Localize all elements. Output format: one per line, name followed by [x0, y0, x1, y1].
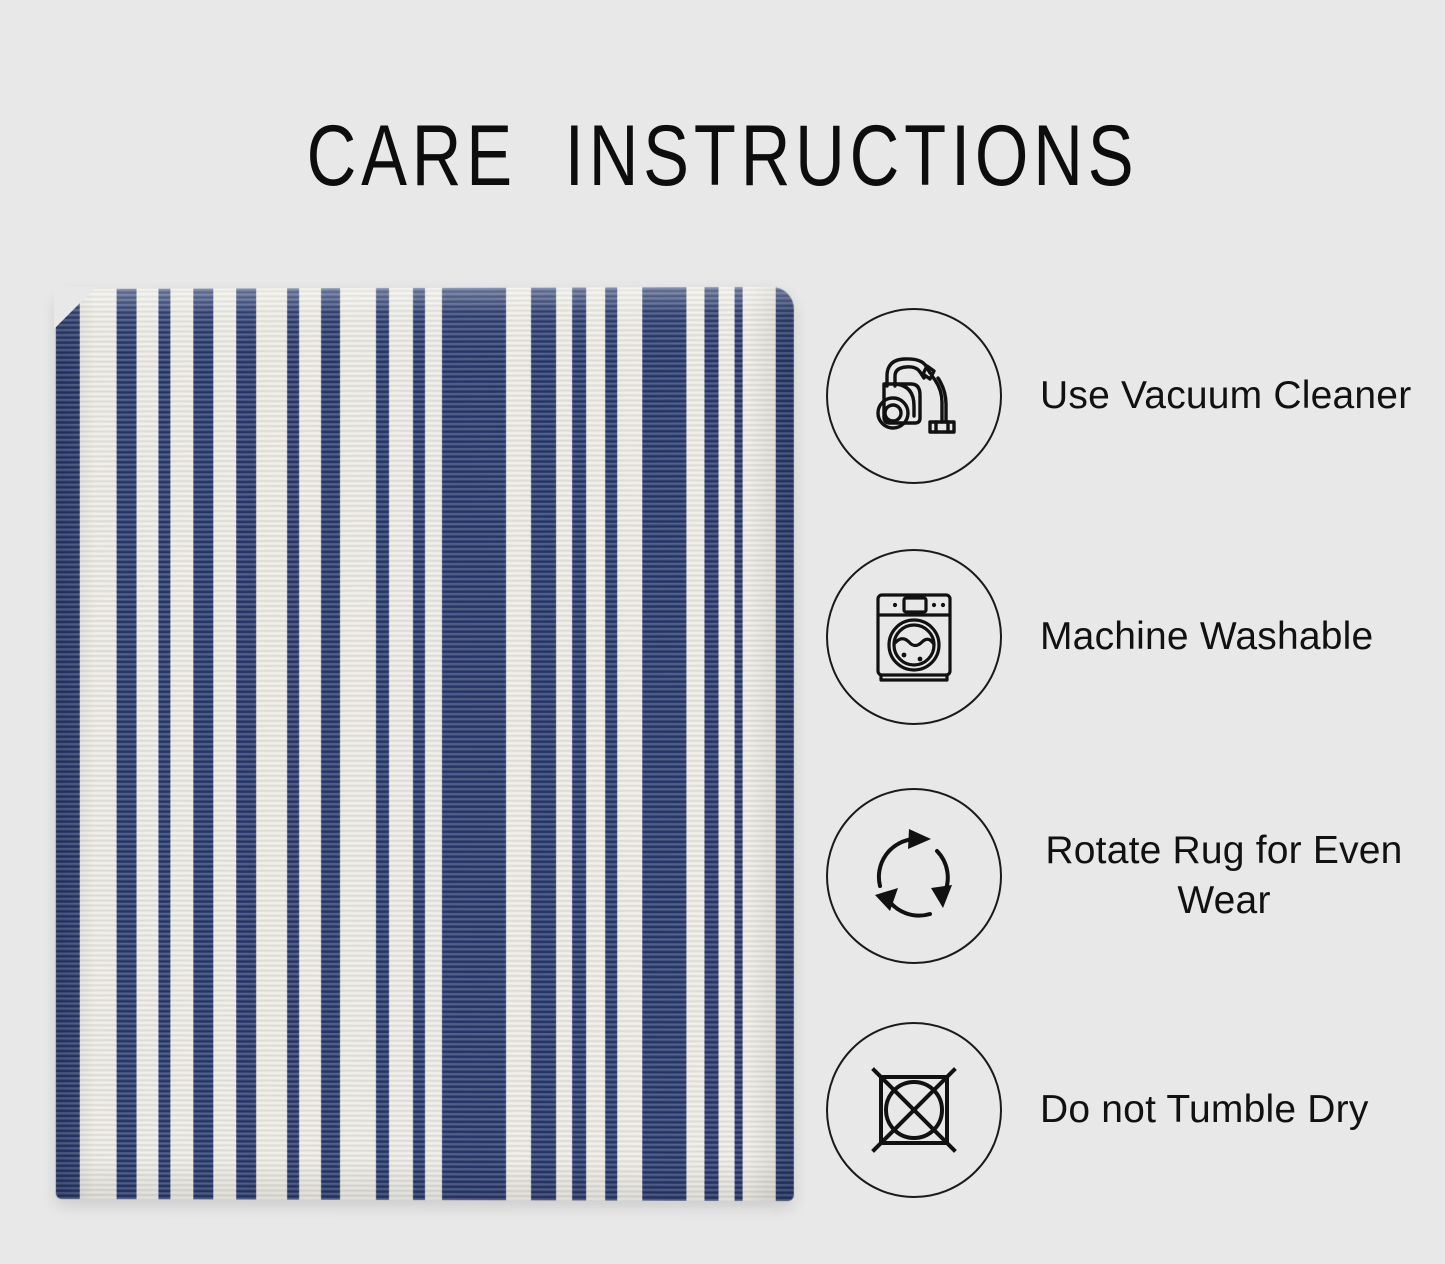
rug-stripe	[605, 287, 617, 1201]
instruction-label-vacuum: Use Vacuum Cleaner	[1040, 371, 1426, 421]
rug-stripe	[705, 287, 718, 1201]
instruction-row-no-tumble-dry: Do not Tumble Dry	[826, 1022, 1426, 1198]
instruction-label-no-tumble-dry: Do not Tumble Dry	[1040, 1085, 1426, 1135]
instruction-label-rotate: Rotate Rug for EvenWear	[1028, 826, 1426, 926]
rug-stripe	[531, 287, 556, 1201]
vacuum-cleaner-icon	[826, 308, 1002, 484]
rug-stripe	[56, 287, 80, 1201]
rug-stripe-pattern	[56, 287, 794, 1201]
page-title: CARE INSTRUCTIONS	[145, 108, 1301, 204]
instruction-label-machine-wash: Machine Washable	[1040, 612, 1426, 662]
rug-stripe	[288, 287, 299, 1201]
instruction-row-vacuum: Use Vacuum Cleaner	[826, 308, 1426, 484]
rug-stripe	[236, 287, 257, 1201]
instruction-row-rotate: Rotate Rug for EvenWear	[826, 788, 1426, 964]
rug-stripe	[572, 287, 586, 1201]
washing-machine-icon	[826, 549, 1002, 725]
instruction-label-rotate-line2: Wear	[1177, 879, 1270, 922]
striped-rug-photo	[56, 287, 794, 1201]
rug-stripe	[442, 287, 505, 1201]
rug-stripe	[642, 287, 686, 1201]
rotate-arrows-icon	[826, 788, 1002, 964]
rug-stripe	[413, 287, 425, 1201]
rug-stripe	[159, 287, 171, 1201]
rug-stripe	[193, 287, 213, 1201]
instruction-row-machine-wash: Machine Washable	[826, 549, 1426, 725]
rug-stripe	[376, 287, 389, 1201]
rug-stripe	[321, 287, 340, 1201]
rug-stripe	[775, 287, 794, 1201]
care-instructions-infographic: CARE INSTRUCTIONS	[0, 0, 1445, 1264]
rug-stripe	[735, 287, 743, 1201]
rug-stripe	[117, 287, 137, 1201]
do-not-tumble-dry-icon	[826, 1022, 1002, 1198]
instruction-label-rotate-line1: Rotate Rug for Even	[1045, 829, 1402, 872]
product-image-container	[55, 288, 793, 1200]
